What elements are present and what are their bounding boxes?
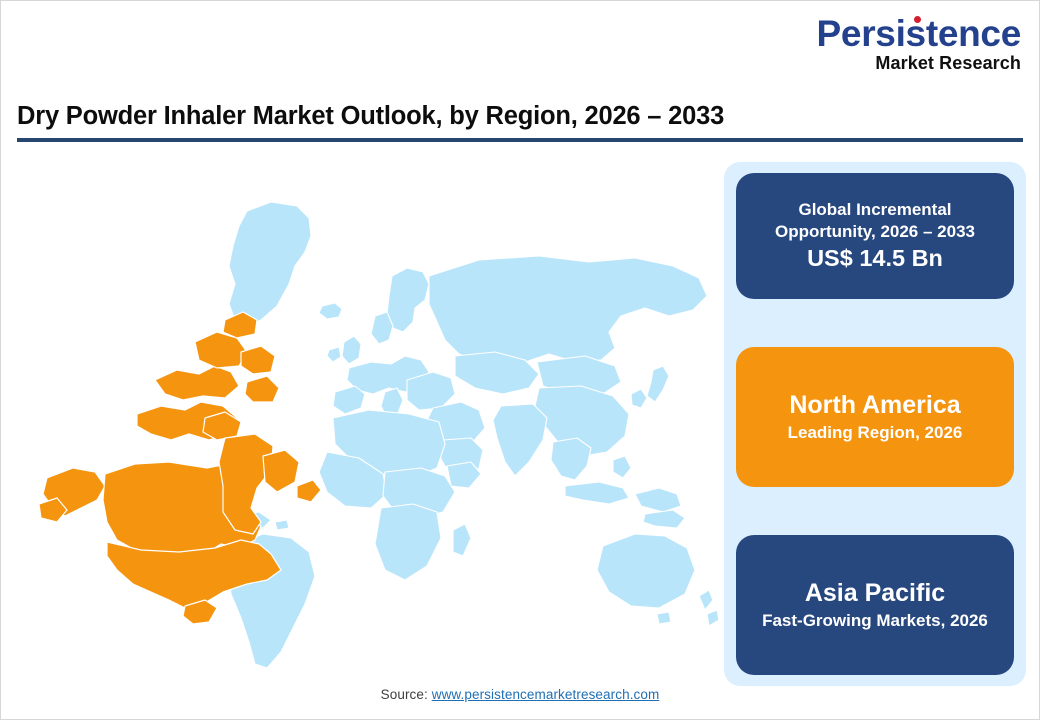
page-title-block: Dry Powder Inhaler Market Outlook, by Re…	[17, 102, 1025, 142]
card-sub-leading-region: Leading Region, 2026	[788, 422, 963, 444]
source-line: Source: www.persistencemarketresearch.co…	[1, 687, 1039, 702]
title-divider	[17, 138, 1023, 142]
card-label-line1: Global Incremental	[798, 199, 951, 221]
logo-primary-text: Persistence	[817, 15, 1021, 52]
card-label-line2: Opportunity, 2026 – 2033	[775, 221, 975, 243]
world-map-svg	[9, 156, 721, 676]
card-leading-region[interactable]: North America Leading Region, 2026	[736, 347, 1014, 487]
page-title: Dry Powder Inhaler Market Outlook, by Re…	[17, 102, 1025, 131]
world-map	[9, 156, 721, 676]
card-headline-fast-growing: Asia Pacific	[805, 578, 945, 608]
source-label: Source:	[381, 687, 432, 702]
logo-secondary-label: Market Research	[817, 54, 1021, 72]
brand-logo: Persistence Market Research	[817, 15, 1021, 72]
card-value-opportunity: US$ 14.5 Bn	[807, 244, 943, 273]
logo-red-dot-icon	[914, 16, 921, 23]
card-headline-leading-region: North America	[789, 390, 960, 420]
card-sub-fast-growing: Fast-Growing Markets, 2026	[762, 610, 988, 632]
stats-panel: Global Incremental Opportunity, 2026 – 2…	[724, 162, 1026, 686]
infographic-root: Persistence Market Research Dry Powder I…	[0, 0, 1040, 720]
card-fast-growing-markets[interactable]: Asia Pacific Fast-Growing Markets, 2026	[736, 535, 1014, 675]
source-url-link[interactable]: www.persistencemarketresearch.com	[432, 687, 660, 702]
card-global-incremental-opportunity[interactable]: Global Incremental Opportunity, 2026 – 2…	[736, 173, 1014, 299]
